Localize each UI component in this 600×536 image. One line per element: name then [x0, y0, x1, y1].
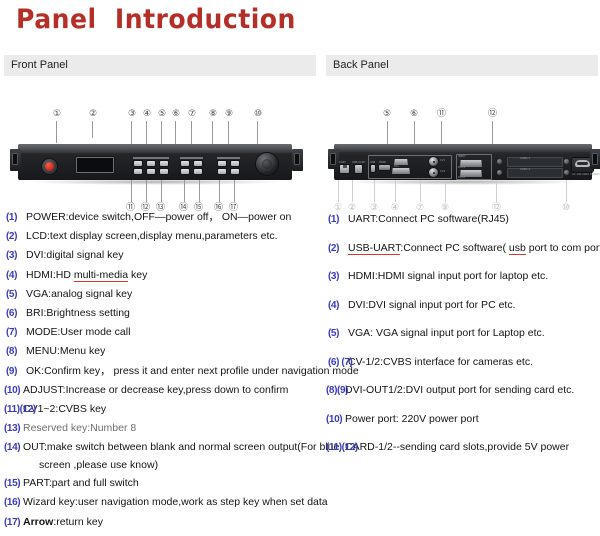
- key-group-b: [180, 157, 203, 174]
- list-marker: (7): [6, 327, 17, 338]
- spellcheck-word: multi-media: [74, 269, 128, 282]
- callout-10: ⑩: [254, 109, 262, 120]
- list-item: (4) HDMI:HD multi-media key: [4, 270, 320, 281]
- back-panel-figure: ⑤ ⑥ ⑪ ⑫ UART USB-UART USB HDMI DVI: [326, 76, 598, 226]
- spellcheck-word: USB-UART: [348, 242, 400, 255]
- adjust-knob[interactable]: [256, 153, 278, 175]
- callout-11: ⑪: [437, 109, 446, 120]
- callout-3: ③: [128, 109, 136, 120]
- list-item: (8) MENU:Menu key: [4, 346, 320, 357]
- uart-rj45-port[interactable]: [340, 165, 349, 173]
- spellcheck-word: usb: [509, 242, 526, 255]
- group-light-bar: [133, 157, 169, 159]
- list-text: UART:Connect PC software(RJ45): [348, 213, 509, 225]
- key-menu[interactable]: [218, 161, 226, 166]
- list-marker: (6): [6, 308, 17, 319]
- leader-line: [420, 180, 421, 202]
- list-item: (14) OUT:make switch between blank and n…: [4, 442, 320, 471]
- list-text: Arrow:return key: [23, 516, 103, 528]
- list-text: DVI:digital signal key: [26, 249, 123, 261]
- list-item: (7) MODE:User mode call: [4, 327, 320, 338]
- group-light-bar: [217, 157, 240, 159]
- list-text: PART:part and full switch: [23, 477, 139, 489]
- leader-line: [184, 180, 185, 202]
- list-marker: (16): [4, 497, 20, 508]
- list-text: USB-UART:Connect PC software( usb port t…: [348, 242, 600, 255]
- front-panel-device: [18, 144, 292, 180]
- list-marker: (1): [328, 214, 339, 225]
- card-slot-1: [507, 157, 563, 167]
- list-item: (2) LCD:text display screen,display menu…: [4, 231, 320, 242]
- list-marker: (11)(12): [326, 442, 358, 453]
- callout-6: ⑥: [410, 109, 418, 120]
- list-marker: (5): [328, 328, 339, 339]
- hdmi-label: HDMI: [379, 161, 386, 164]
- group-light-bar: [180, 157, 203, 159]
- leader-line: [414, 121, 415, 146]
- key-wizard[interactable]: [218, 169, 226, 174]
- leader-line: [228, 121, 229, 146]
- rack-ear-left: [328, 149, 339, 169]
- key-ok[interactable]: [231, 161, 239, 166]
- leader-line: [161, 180, 162, 202]
- callout-5: ⑤: [158, 109, 166, 120]
- leader-line: [374, 180, 375, 202]
- rack-ear-left: [10, 149, 21, 171]
- callout-10: ⑩: [562, 203, 570, 214]
- leader-line: [219, 180, 220, 202]
- key-vga[interactable]: [160, 161, 168, 166]
- list-text-continuation: screen ,please use know): [23, 460, 320, 471]
- key-cv2[interactable]: [147, 169, 155, 174]
- list-marker: (1): [6, 212, 17, 223]
- leader-line: [338, 180, 339, 202]
- card-slot-2: [507, 168, 563, 178]
- callout-5: ⑤: [383, 109, 391, 120]
- list-item: (2) USB-UART:Connect PC software( usb po…: [326, 243, 600, 254]
- list-text: Power port: 220V power port: [345, 413, 479, 425]
- list-marker: (11)(12): [4, 404, 36, 415]
- key-reserved[interactable]: [160, 169, 168, 174]
- card-2-label: CARD-2: [520, 168, 530, 171]
- list-marker: (9): [6, 366, 17, 377]
- screw: [564, 170, 569, 175]
- list-item: (16) Wizard key:user navigation mode,wor…: [4, 497, 320, 508]
- leader-line: [146, 121, 147, 146]
- leader-line: [352, 180, 353, 202]
- leader-line: [92, 121, 93, 138]
- key-mode[interactable]: [194, 161, 202, 166]
- list-marker: (2): [328, 243, 339, 254]
- leader-line: [191, 121, 192, 146]
- list-item: (9) OK:Confirm key， press it and enter n…: [4, 366, 320, 377]
- back-panel-device: UART USB-UART USB HDMI DVI CV1 CV2 INPUT…: [334, 144, 592, 180]
- uart-label: UART: [339, 161, 346, 164]
- list-marker: (10): [4, 385, 20, 396]
- device-shadow: [342, 179, 584, 185]
- callout-1: ①: [334, 203, 342, 214]
- dvi-input-port[interactable]: [392, 168, 410, 174]
- page-title: Panel Introduction: [16, 4, 296, 35]
- list-text: DVI-OUT1/2:DVI output port for sending c…: [345, 384, 574, 396]
- device-shadow: [26, 179, 284, 185]
- list-text: POWER:device switch,OFF—power off， ON—po…: [26, 211, 291, 223]
- list-item: (1) UART:Connect PC software(RJ45): [326, 214, 600, 225]
- leader-line: [56, 121, 57, 143]
- callout-12: ⑫: [488, 109, 497, 120]
- usb-uart-port[interactable]: [355, 165, 362, 173]
- list-text: VGA: VGA signal input port for Laptop et…: [348, 327, 545, 339]
- list-text: OUT:make switch between blank and normal…: [23, 441, 339, 453]
- list-item: (5) VGA: VGA signal input port for Lapto…: [326, 328, 600, 339]
- list-text: HDMI:HDMI signal input port for laptop e…: [348, 270, 548, 282]
- list-marker: (6) (7): [328, 357, 352, 368]
- list-marker: (8): [6, 346, 17, 357]
- leader-line: [175, 121, 176, 146]
- list-marker: (17): [4, 517, 20, 528]
- list-marker: (2): [6, 231, 17, 242]
- output-label: INPUT: [458, 155, 466, 158]
- list-text: Reserved key:Number 8: [23, 422, 136, 434]
- leader-line: [496, 180, 497, 202]
- leader-line: [387, 121, 388, 146]
- callout-2: ②: [89, 109, 97, 120]
- list-marker: (14): [4, 442, 20, 453]
- key-part[interactable]: [194, 169, 202, 174]
- callout-9: ⑨: [225, 109, 233, 120]
- leader-line: [161, 121, 162, 146]
- list-marker: (3): [6, 250, 17, 261]
- list-item: (3) HDMI:HDMI signal input port for lapt…: [326, 271, 600, 282]
- list-text: ADJUST:Increase or decrease key,press do…: [23, 384, 288, 396]
- rack-ear-right: [292, 149, 303, 171]
- rack-ear-right: [590, 149, 600, 169]
- list-text: CARD-1/2--sending card slots,provide 5V …: [345, 441, 569, 453]
- list-item: (13) Reserved key:Number 8: [4, 423, 320, 434]
- leader-line: [131, 121, 132, 146]
- device-top-bevel: [334, 144, 592, 152]
- leader-line: [441, 121, 442, 146]
- front-panel-section: Front Panel ① ② ③ ④ ⑤ ⑥ ⑦ ⑧ ⑨ ⑩: [4, 55, 316, 226]
- emphasis-word: Arrow: [23, 516, 53, 528]
- front-panel-figure: ① ② ③ ④ ⑤ ⑥ ⑦ ⑧ ⑨ ⑩: [4, 76, 316, 226]
- list-item: (4) DVI:DVI signal input port for PC etc…: [326, 300, 600, 311]
- leader-line: [131, 180, 132, 202]
- list-text: MENU:Menu key: [26, 345, 105, 357]
- list-marker: (4): [328, 300, 339, 311]
- list-text: BRI:Brightness setting: [26, 307, 130, 319]
- list-marker: (3): [328, 271, 339, 282]
- callout-4: ④: [143, 109, 151, 120]
- list-item: (10) Power port: 220V power port: [326, 414, 600, 425]
- dvi-out1-label: DVI-1: [458, 166, 465, 169]
- leader-line: [257, 121, 258, 146]
- key-dvi[interactable]: [134, 161, 142, 166]
- key-hdmi[interactable]: [147, 161, 155, 166]
- usb-uart-label: USB-UART: [352, 161, 365, 164]
- device-top-bevel: [18, 144, 292, 153]
- key-out[interactable]: [181, 169, 189, 174]
- leader-line: [445, 180, 446, 202]
- cv2-label: CV2: [440, 170, 445, 173]
- list-marker: (4): [6, 270, 17, 281]
- key-arrow[interactable]: [231, 169, 239, 174]
- list-item: (1) POWER:device switch,OFF—power off， O…: [4, 212, 320, 223]
- ac-rating-label: AC 100-240V 50/60Hz: [572, 173, 600, 176]
- leader-line: [146, 180, 147, 202]
- list-item: (5) VGA:analog signal key: [4, 289, 320, 300]
- front-panel-header: Front Panel: [4, 55, 316, 76]
- dvi-label: DVI: [394, 165, 399, 168]
- list-item: (10) ADJUST:Increase or decrease key,pre…: [4, 385, 320, 396]
- key-cv1[interactable]: [134, 169, 142, 174]
- screw: [497, 159, 502, 164]
- power-button[interactable]: [42, 159, 57, 174]
- leader-line: [395, 180, 396, 202]
- list-text: LCD:text display screen,display menu,par…: [26, 230, 278, 242]
- callout-6: ⑥: [172, 109, 180, 120]
- list-text: DVI:DVI signal input port for PC etc.: [348, 299, 516, 311]
- list-text: VGA:analog signal key: [26, 288, 132, 300]
- list-marker: (13): [4, 423, 20, 434]
- list-marker: (8)(9): [326, 385, 348, 396]
- list-item: (6) (7) CV-1/2:CVBS interface for camera…: [326, 357, 600, 368]
- back-panel-header: Back Panel: [326, 55, 598, 76]
- leader-line: [492, 121, 493, 146]
- card-1-label: CARD-1: [520, 157, 530, 160]
- list-text: Wizard key:user navigation mode,work as …: [23, 496, 328, 508]
- key-group-a: [133, 157, 169, 174]
- callout-8: ⑧: [209, 109, 217, 120]
- key-group-c: [217, 157, 240, 174]
- leader-line: [212, 121, 213, 146]
- cv2-bnc-port[interactable]: [429, 168, 438, 177]
- list-item: (8)(9) DVI-OUT1/2:DVI output port for se…: [326, 385, 600, 396]
- lcd-screen: [76, 157, 114, 173]
- list-item: (11)(12) CARD-1/2--sending card slots,pr…: [326, 442, 600, 453]
- leader-line: [566, 180, 567, 202]
- list-marker: (5): [6, 289, 17, 300]
- list-item: (6) BRI:Brightness setting: [4, 308, 320, 319]
- list-text: OK:Confirm key， press it and enter next …: [26, 365, 359, 377]
- screw: [564, 159, 569, 164]
- cv1-label: CV1: [440, 159, 445, 162]
- usb-port[interactable]: [371, 165, 375, 172]
- list-text: CV-1/2:CVBS interface for cameras etc.: [348, 356, 533, 368]
- usb-label: USB: [370, 161, 375, 164]
- callout-7: ⑦: [188, 109, 196, 120]
- list-item: (17) Arrow:return key: [4, 517, 320, 528]
- front-panel-description-list: (1) POWER:device switch,OFF—power off， O…: [4, 212, 320, 536]
- list-item: (11)(12) CV1~2:CVBS key: [4, 404, 320, 415]
- leader-line: [234, 180, 235, 202]
- list-text: MODE:User mode call: [26, 326, 130, 338]
- key-bri[interactable]: [181, 161, 189, 166]
- list-marker: (10): [326, 414, 342, 425]
- callout-1: ①: [53, 109, 61, 120]
- screw: [497, 170, 502, 175]
- back-panel-description-list: (1) UART:Connect PC software(RJ45) (2) U…: [326, 214, 600, 471]
- list-item: (3) DVI:digital signal key: [4, 250, 320, 261]
- leader-line: [199, 180, 200, 202]
- list-text: HDMI:HD multi-media key: [26, 269, 147, 282]
- cv1-bnc-port[interactable]: [429, 157, 438, 166]
- back-panel-section: Back Panel ⑤ ⑥ ⑪ ⑫ UART USB-UART USB HD: [326, 55, 598, 226]
- hdmi-input-port[interactable]: [379, 165, 390, 170]
